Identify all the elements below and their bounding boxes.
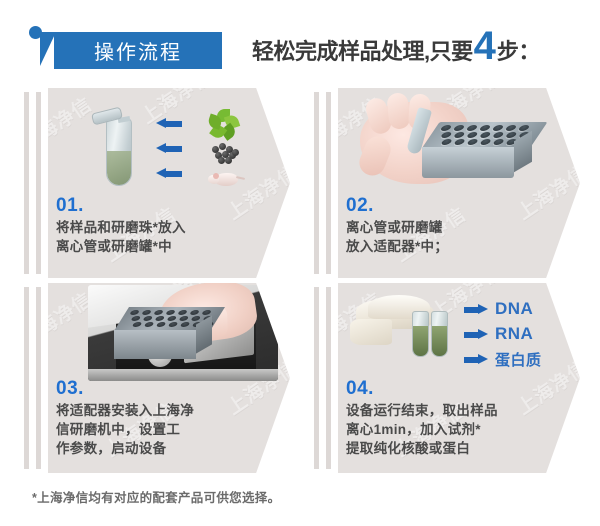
arrow-right-icon bbox=[464, 329, 488, 340]
step-description-line: 离心管或研磨罐 bbox=[346, 218, 561, 237]
step-description-line: 设备运行结束，取出样品 bbox=[346, 401, 561, 420]
step-card-04: 上海净信 上海净信 上海净信 上海净信 上海净信 bbox=[314, 283, 599, 473]
output-row: 蛋白质 bbox=[464, 349, 542, 370]
step-01-text: 01. 将样品和研磨珠*放入 离心管或研磨罐*中 bbox=[56, 196, 271, 256]
step-card-body: 上海净信 上海净信 上海净信 上海净信 上海净信 bbox=[338, 88, 580, 278]
step-description-line: 离心管或研磨罐*中 bbox=[56, 237, 271, 256]
headline-suffix: 步： bbox=[497, 34, 540, 66]
adapter-block-icon bbox=[114, 307, 210, 359]
arrow-left-icon bbox=[156, 118, 182, 129]
step-description-line: 将样品和研磨珠*放入 bbox=[56, 218, 271, 237]
headline-step-count: 4 bbox=[474, 28, 496, 64]
step-description-line: 离心1min，加入试剂* bbox=[346, 420, 561, 439]
step-number: 01. bbox=[56, 196, 271, 217]
step-card-body: 上海净信 上海净信 上海净信 上海净信 上海净信 bbox=[338, 283, 580, 473]
step-description-line: 作参数，启动设备 bbox=[56, 439, 271, 458]
watermark-text: 上海净信 bbox=[203, 260, 284, 278]
arrow-left-icon bbox=[156, 168, 182, 179]
accent-bar bbox=[24, 287, 29, 469]
step-description-line: 将适配器安装入上海净 bbox=[56, 401, 271, 420]
output-label-rna: RNA bbox=[495, 324, 533, 344]
step-02-text: 02. 离心管或研磨罐 放入适配器*中； bbox=[346, 196, 561, 256]
step-number: 03. bbox=[56, 379, 271, 400]
step-description-line: 放入适配器*中； bbox=[346, 237, 561, 256]
step-description: 离心管或研磨罐 放入适配器*中； bbox=[346, 218, 561, 256]
step-description: 将适配器安装入上海净 信研磨机中，设置工 作参数，启动设备 bbox=[56, 401, 271, 458]
footnote: *上海净信均有对应的配套产品可供您选择。 bbox=[32, 487, 280, 506]
accent-bar bbox=[326, 92, 331, 274]
arrow-left-icon bbox=[156, 143, 182, 154]
step-card-body: 上海净信 上海净信 上海净信 上海净信 上海净信 bbox=[48, 283, 290, 473]
page-header: 操作流程 轻松完成样品处理,只要 4 步： bbox=[0, 0, 600, 88]
banner-ribbon: 操作流程 bbox=[54, 32, 222, 69]
banner-label: 操作流程 bbox=[94, 36, 182, 65]
step-03-artwork bbox=[88, 285, 278, 381]
mouse-sample-icon bbox=[204, 162, 242, 192]
leaf-sample-icon bbox=[204, 108, 242, 138]
step-description-line: 提取纯化核酸或蛋白 bbox=[346, 439, 561, 458]
steps-grid: 上海净信 上海净信 上海净信 上海净信 上海净信 bbox=[0, 88, 600, 476]
arrow-right-icon bbox=[464, 354, 488, 365]
accent-bar bbox=[36, 92, 41, 274]
watermark-text: 上海净信 bbox=[493, 260, 574, 278]
step-03-text: 03. 将适配器安装入上海净 信研磨机中，设置工 作参数，启动设备 bbox=[56, 379, 271, 458]
centrifuge-tube-icon bbox=[106, 110, 132, 186]
step-04-text: 04. 设备运行结束，取出样品 离心1min，加入试剂* 提取纯化核酸或蛋白 bbox=[346, 379, 561, 458]
output-label-dna: DNA bbox=[495, 299, 533, 319]
arrow-right-icon bbox=[464, 304, 488, 315]
step-card-02: 上海净信 上海净信 上海净信 上海净信 上海净信 bbox=[314, 88, 599, 278]
headline: 轻松完成样品处理,只要 4 步： bbox=[252, 28, 540, 66]
step-card-03: 上海净信 上海净信 上海净信 上海净信 上海净信 bbox=[24, 283, 309, 473]
step-01-artwork bbox=[78, 96, 278, 192]
step-number: 02. bbox=[346, 196, 561, 217]
output-list: DNA RNA 蛋白质 bbox=[464, 297, 576, 375]
step-card-body: 上海净信 上海净信 上海净信 上海净信 上海净信 bbox=[48, 88, 290, 278]
step-number: 04. bbox=[346, 379, 561, 400]
accent-bar bbox=[314, 92, 319, 274]
accent-bar bbox=[24, 92, 29, 274]
headline-prefix: 轻松完成样品处理,只要 bbox=[252, 34, 473, 66]
accent-bar bbox=[36, 287, 41, 469]
accent-bar bbox=[326, 287, 331, 469]
step-02-artwork bbox=[360, 92, 575, 192]
accent-bar bbox=[314, 287, 319, 469]
step-description-line: 信研磨机中，设置工 bbox=[56, 420, 271, 439]
step-card-01: 上海净信 上海净信 上海净信 上海净信 上海净信 bbox=[24, 88, 309, 278]
sample-tubes-icon bbox=[412, 311, 452, 357]
adapter-block-icon bbox=[422, 122, 530, 178]
step-description: 将样品和研磨珠*放入 离心管或研磨罐*中 bbox=[56, 218, 271, 256]
step-description: 设备运行结束，取出样品 离心1min，加入试剂* 提取纯化核酸或蛋白 bbox=[346, 401, 561, 458]
output-label-protein: 蛋白质 bbox=[495, 349, 542, 370]
output-row: RNA bbox=[464, 324, 533, 344]
output-row: DNA bbox=[464, 299, 533, 319]
step-04-artwork: DNA RNA 蛋白质 bbox=[356, 289, 576, 385]
